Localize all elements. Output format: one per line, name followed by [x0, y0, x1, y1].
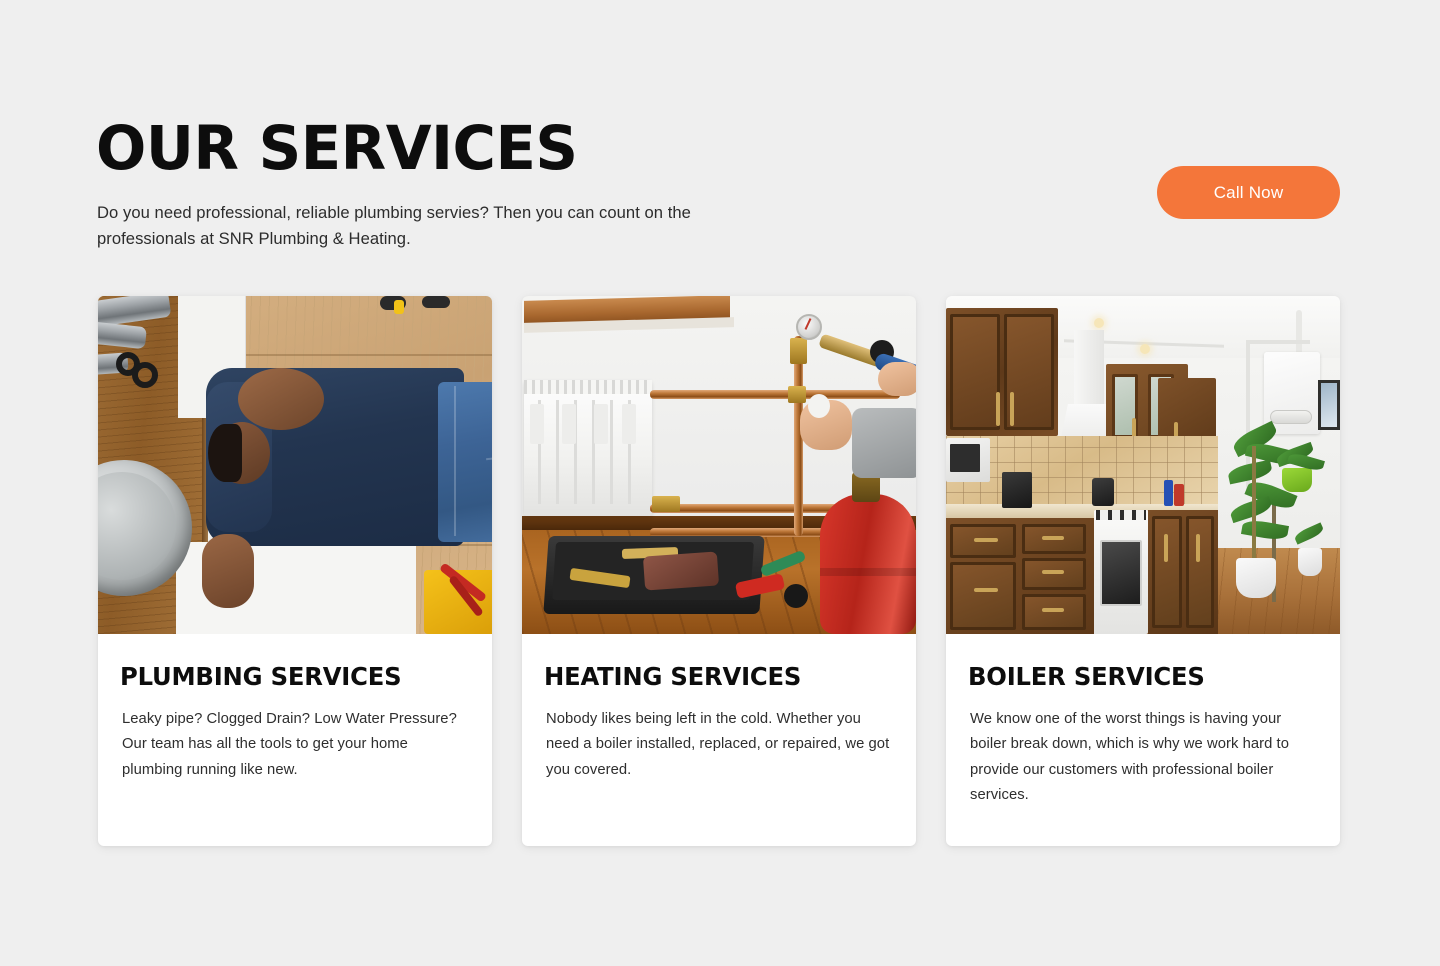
radiator-torch-image: [522, 296, 916, 634]
services-card-grid: PLUMBING SERVICES Leaky pipe? Clogged Dr…: [98, 296, 1340, 846]
card-description: Leaky pipe? Clogged Drain? Low Water Pre…: [120, 707, 470, 783]
card-title: PLUMBING SERVICES: [120, 662, 460, 691]
services-section: OUR SERVICES Do you need professional, r…: [0, 0, 1440, 966]
service-card-heating[interactable]: HEATING SERVICES Nobody likes being left…: [522, 296, 916, 846]
card-body: HEATING SERVICES Nobody likes being left…: [522, 634, 916, 846]
card-body: PLUMBING SERVICES Leaky pipe? Clogged Dr…: [98, 634, 492, 846]
service-card-boiler[interactable]: BOILER SERVICES We know one of the worst…: [946, 296, 1340, 846]
card-description: We know one of the worst things is havin…: [968, 707, 1318, 809]
kitchen-boiler-image: [946, 296, 1340, 634]
page-title: OUR SERVICES: [96, 112, 578, 186]
section-subtitle: Do you need professional, reliable plumb…: [97, 200, 697, 251]
service-card-plumbing[interactable]: PLUMBING SERVICES Leaky pipe? Clogged Dr…: [98, 296, 492, 846]
card-title: HEATING SERVICES: [544, 662, 884, 691]
plumber-under-sink-image: [98, 296, 492, 634]
card-description: Nobody likes being left in the cold. Whe…: [544, 707, 894, 783]
card-title: BOILER SERVICES: [968, 662, 1308, 691]
call-now-wrapper: Call Now: [1157, 166, 1340, 219]
card-body: BOILER SERVICES We know one of the worst…: [946, 634, 1340, 846]
call-now-button[interactable]: Call Now: [1157, 166, 1340, 219]
